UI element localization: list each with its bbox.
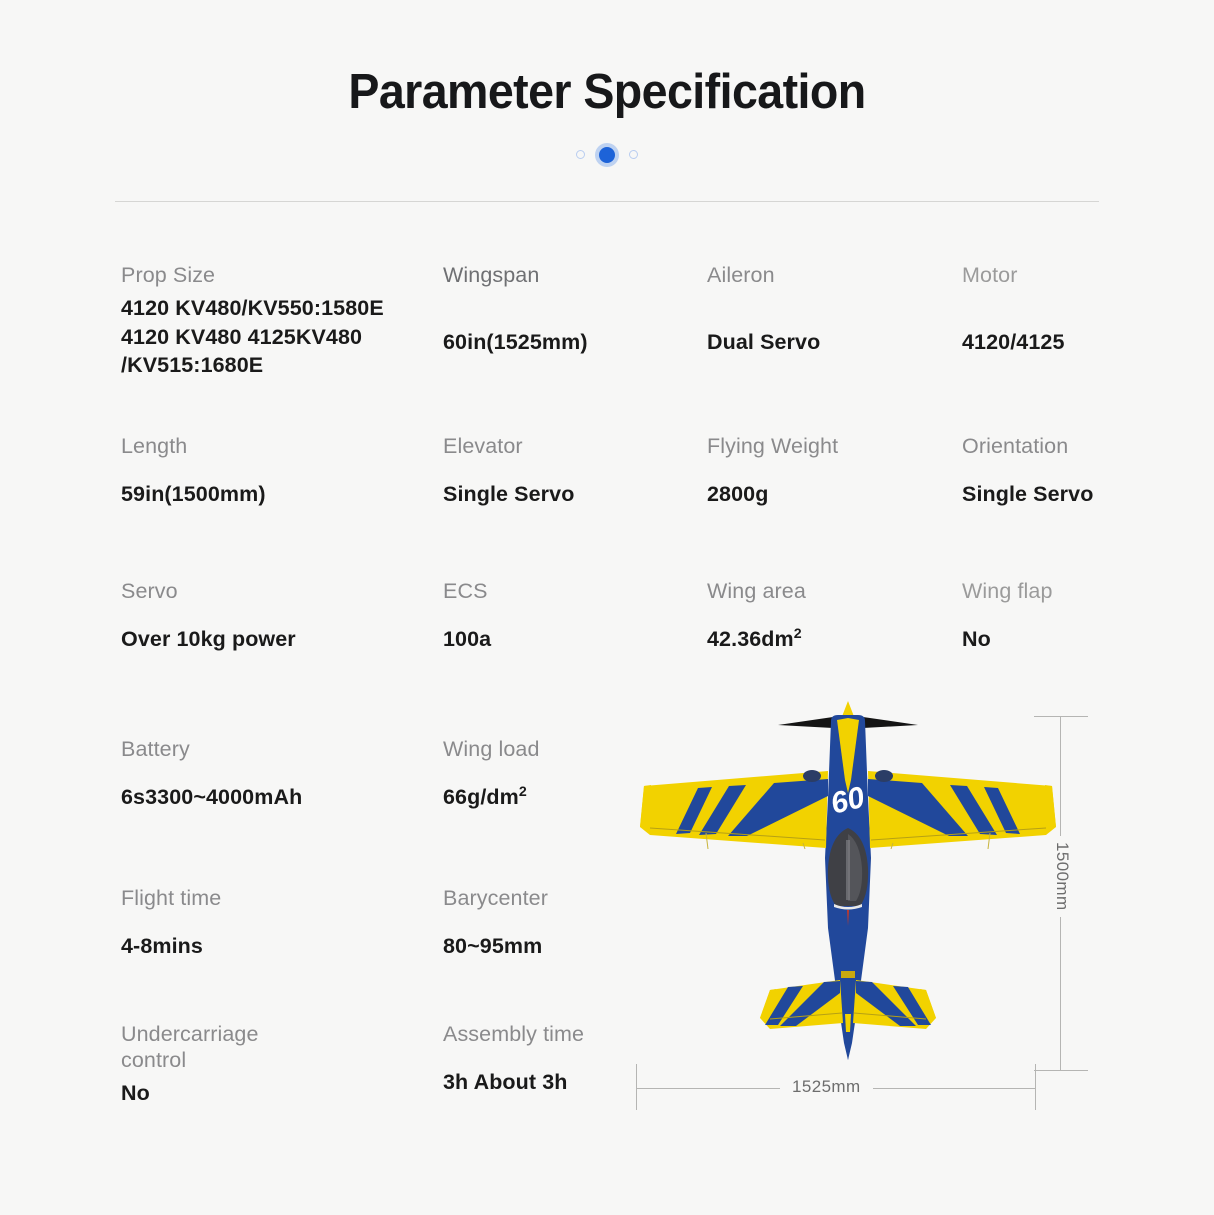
spec-value-prop-size: 4120 KV480/KV550:1580E 4120 KV480 4125KV… bbox=[121, 294, 451, 379]
header-divider bbox=[115, 201, 1099, 202]
right-servo-bump bbox=[875, 770, 893, 782]
spec-cell-undercarriage-control: Undercarriage control No bbox=[121, 1021, 451, 1108]
carousel-dots[interactable] bbox=[0, 146, 1214, 164]
spec-value-flight-time: 4-8mins bbox=[121, 932, 451, 960]
spec-cell-elevator: Elevator Single Servo bbox=[443, 433, 703, 509]
spec-label-flying-weight: Flying Weight bbox=[707, 433, 957, 459]
spec-cell-flight-time: Flight time 4-8mins bbox=[121, 885, 451, 961]
spec-cell-aileron: Aileron Dual Servo bbox=[707, 262, 957, 357]
spec-value-wing-area: 42.36dm2 bbox=[707, 625, 957, 653]
dimension-tick-bottom bbox=[1034, 1070, 1088, 1071]
spec-value-wing-load-exponent: 2 bbox=[519, 784, 527, 800]
spec-value-wing-area-exponent: 2 bbox=[794, 626, 802, 642]
left-servo-bump bbox=[803, 770, 821, 782]
carousel-dot-3[interactable] bbox=[629, 150, 638, 159]
spec-label-aileron: Aileron bbox=[707, 262, 957, 288]
spec-cell-servo: Servo Over 10kg power bbox=[121, 578, 451, 654]
spec-value-ecs: 100a bbox=[443, 625, 703, 653]
spec-label-prop-size: Prop Size bbox=[121, 262, 451, 288]
spec-value-undercarriage-control: No bbox=[121, 1079, 451, 1107]
spec-cell-battery: Battery 6s3300~4000mAh bbox=[121, 736, 451, 812]
carousel-dot-2-active[interactable] bbox=[599, 147, 615, 163]
dimension-tick-right bbox=[1035, 1064, 1036, 1110]
spec-label-orientation: Orientation bbox=[962, 433, 1162, 459]
left-wing bbox=[640, 771, 828, 849]
spec-value-battery: 6s3300~4000mAh bbox=[121, 783, 451, 811]
right-wing bbox=[868, 771, 1056, 849]
spec-value-wing-load-number: 66g/dm bbox=[443, 785, 519, 809]
airplane-top-view-illustration: 60 bbox=[628, 688, 1068, 1078]
tail-bracket bbox=[841, 971, 855, 978]
spec-value-wing-flap: No bbox=[962, 625, 1162, 653]
spec-value-orientation: Single Servo bbox=[962, 480, 1162, 508]
spec-value-flying-weight: 2800g bbox=[707, 480, 957, 508]
dimension-tick-left bbox=[636, 1064, 637, 1110]
spec-cell-flying-weight: Flying Weight 2800g bbox=[707, 433, 957, 509]
spec-cell-motor: Motor 4120/4125 bbox=[962, 262, 1162, 357]
dimension-label-width: 1525mm bbox=[780, 1077, 873, 1097]
spec-label-undercarriage-control: Undercarriage control bbox=[121, 1021, 451, 1073]
spec-cell-ecs: ECS 100a bbox=[443, 578, 703, 654]
spec-value-servo: Over 10kg power bbox=[121, 625, 451, 653]
spec-label-servo: Servo bbox=[121, 578, 451, 604]
spec-label-battery: Battery bbox=[121, 736, 451, 762]
spec-cell-wing-area: Wing area 42.36dm2 bbox=[707, 578, 957, 654]
spec-value-wingspan: 60in(1525mm) bbox=[443, 328, 703, 356]
spec-cell-wingspan: Wingspan 60in(1525mm) bbox=[443, 262, 703, 357]
carousel-dot-1[interactable] bbox=[576, 150, 585, 159]
spec-value-length: 59in(1500mm) bbox=[121, 480, 451, 508]
dimension-tick-top bbox=[1034, 716, 1088, 717]
spec-value-elevator: Single Servo bbox=[443, 480, 703, 508]
page-title: Parameter Specification bbox=[30, 66, 1183, 120]
spec-cell-orientation: Orientation Single Servo bbox=[962, 433, 1162, 509]
rudder-accent bbox=[845, 1014, 851, 1032]
spec-label-motor: Motor bbox=[962, 262, 1162, 288]
spec-value-aileron: Dual Servo bbox=[707, 328, 957, 356]
spec-label-wingspan: Wingspan bbox=[443, 262, 703, 288]
spec-label-length: Length bbox=[121, 433, 451, 459]
spec-cell-prop-size: Prop Size 4120 KV480/KV550:1580E 4120 KV… bbox=[121, 262, 451, 379]
spec-cell-wing-flap: Wing flap No bbox=[962, 578, 1162, 654]
spec-label-wing-area: Wing area bbox=[707, 578, 957, 604]
page-header: Parameter Specification bbox=[0, 0, 1214, 202]
spec-value-motor: 4120/4125 bbox=[962, 328, 1162, 356]
spec-label-ecs: ECS bbox=[443, 578, 703, 604]
spec-label-flight-time: Flight time bbox=[121, 885, 451, 911]
spec-label-elevator: Elevator bbox=[443, 433, 703, 459]
dimension-label-height: 1500mm bbox=[1050, 836, 1072, 917]
spec-label-wing-flap: Wing flap bbox=[962, 578, 1162, 604]
airplane-figure: 60 1500mm 1525mm bbox=[620, 688, 1110, 1128]
spec-value-wing-area-number: 42.36dm bbox=[707, 627, 794, 651]
spec-cell-length: Length 59in(1500mm) bbox=[121, 433, 451, 509]
